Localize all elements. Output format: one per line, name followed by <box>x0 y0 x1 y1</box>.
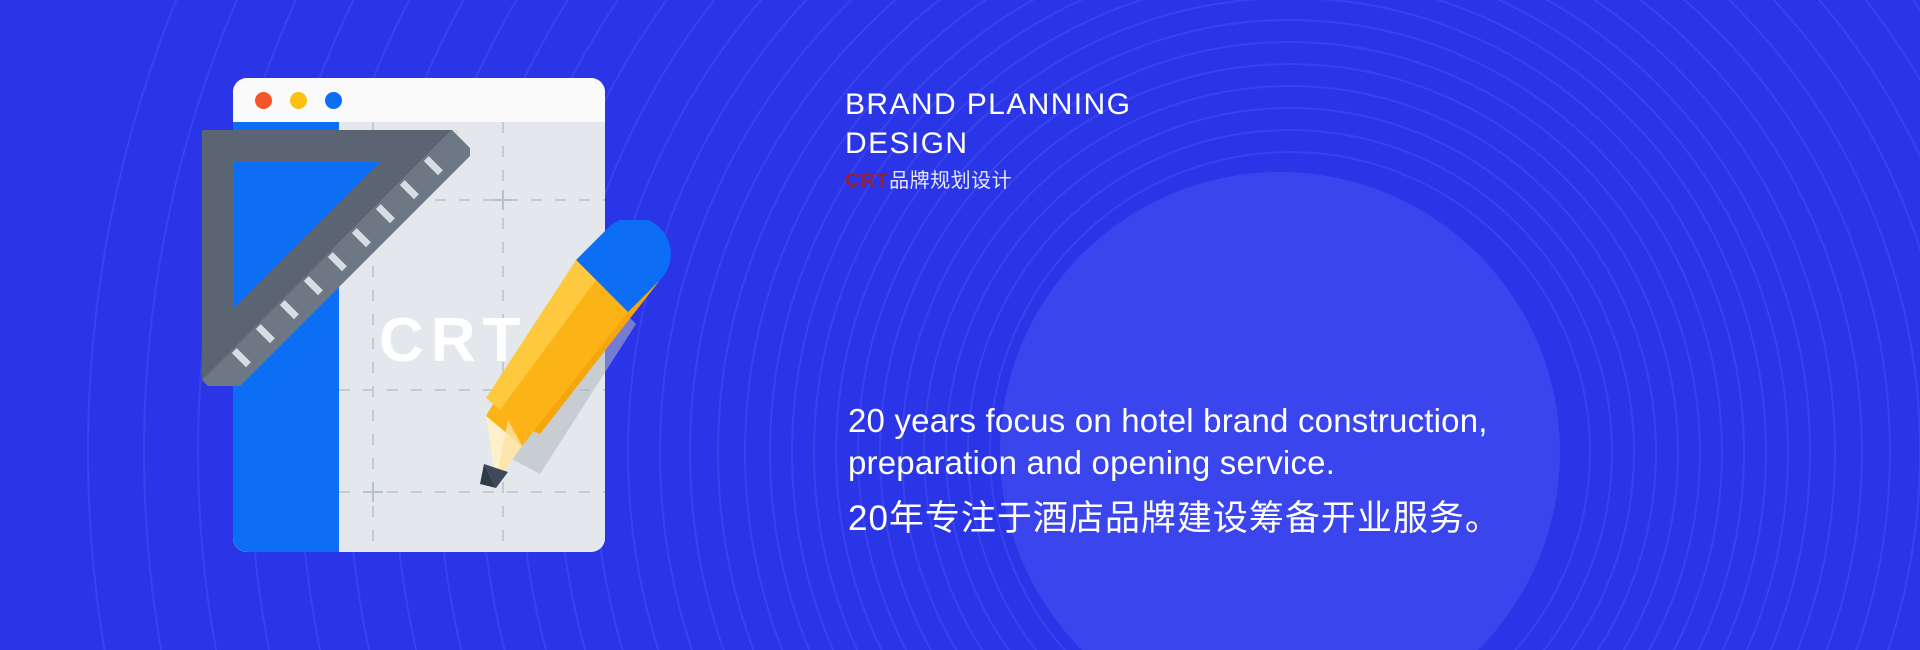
tagline-english-line-2: preparation and opening service. <box>848 442 1748 484</box>
window-title-bar <box>233 78 605 122</box>
subheadline-brand: CRT <box>845 170 889 192</box>
pencil-icon <box>478 220 708 525</box>
headline-line-2: DESIGN <box>845 124 1545 163</box>
headline-group: BRAND PLANNING DESIGN CRT品牌规划设计 <box>845 85 1545 195</box>
subheadline: CRT品牌规划设计 <box>845 167 1545 195</box>
tagline-english-line-1: 20 years focus on hotel brand constructi… <box>848 400 1748 442</box>
tagline-chinese: 20年专注于酒店品牌建设筹备开业服务。 <box>848 498 1748 540</box>
tagline-group: 20 years focus on hotel brand constructi… <box>848 400 1748 540</box>
brand-banner: CRT <box>0 0 1920 650</box>
hero-illustration: CRT <box>190 70 720 570</box>
headline-line-1: BRAND PLANNING <box>845 85 1545 124</box>
maximize-dot-icon <box>325 92 342 109</box>
minimize-dot-icon <box>290 92 307 109</box>
set-square-ruler-icon <box>190 126 470 391</box>
subheadline-chinese: 品牌规划设计 <box>889 170 1012 192</box>
close-dot-icon <box>255 92 272 109</box>
